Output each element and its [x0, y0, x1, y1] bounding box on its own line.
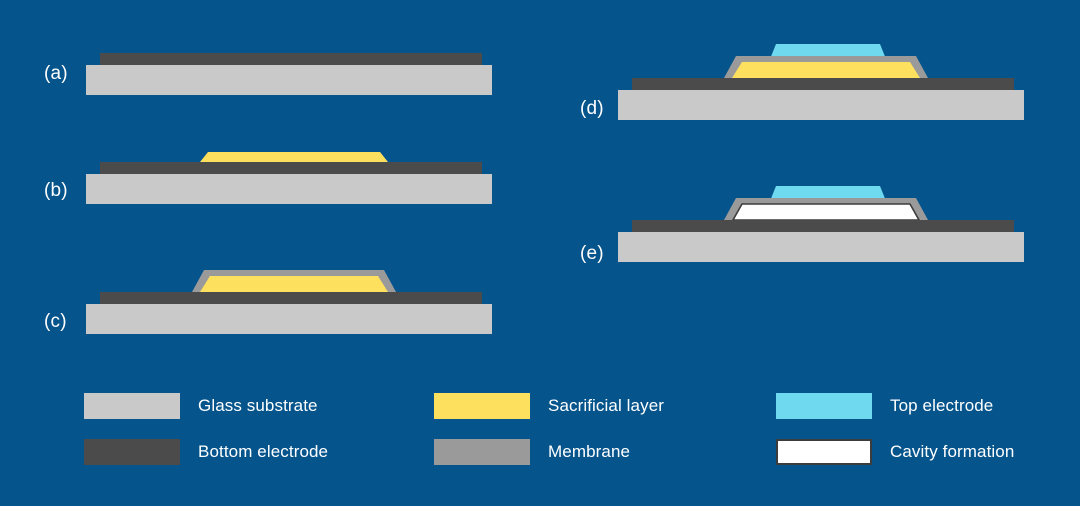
legend-item-sacrificial-layer: Sacrificial layer	[434, 393, 664, 419]
panel-label-c: (c)	[44, 311, 67, 333]
legend-label-sacrificial-layer: Sacrificial layer	[548, 396, 664, 416]
layer-bottom-electrode	[632, 78, 1014, 90]
process-flow-figure: (a) (b) (c) (d)	[0, 0, 1080, 506]
legend-swatch-top-electrode	[776, 393, 872, 419]
legend-swatch-bottom-electrode	[84, 439, 180, 465]
layer-glass-substrate	[86, 65, 492, 95]
layer-sacrificial-top	[735, 62, 917, 78]
legend-item-glass-substrate: Glass substrate	[84, 393, 318, 419]
layer-bottom-electrode	[632, 220, 1014, 232]
panel-label-e: (e)	[580, 243, 604, 265]
layer-cavity-formation	[733, 204, 919, 220]
legend-item-cavity-formation: Cavity formation	[776, 439, 1014, 465]
legend-label-membrane: Membrane	[548, 442, 630, 462]
panel-c-cross-section	[86, 258, 496, 336]
legend-item-top-electrode: Top electrode	[776, 393, 993, 419]
layer-glass-substrate	[86, 304, 492, 334]
legend-swatch-cavity-formation	[776, 439, 872, 465]
layer-sacrificial-top	[200, 152, 388, 162]
layer-bottom-electrode	[100, 292, 482, 304]
legend-label-cavity-formation: Cavity formation	[890, 442, 1014, 462]
panel-label-d: (d)	[580, 98, 604, 120]
panel-label-b: (b)	[44, 180, 68, 202]
layer-sacrificial-top	[203, 276, 385, 292]
panel-b-cross-section	[86, 140, 496, 206]
panel-d-cross-section	[618, 30, 1028, 122]
legend-swatch-membrane	[434, 439, 530, 465]
legend-item-membrane: Membrane	[434, 439, 630, 465]
layer-glass-substrate	[618, 232, 1024, 262]
panel-a-cross-section	[86, 45, 496, 97]
layer-bottom-electrode	[100, 53, 482, 65]
layer-glass-substrate	[618, 90, 1024, 120]
legend-label-bottom-electrode: Bottom electrode	[198, 442, 328, 462]
legend-swatch-sacrificial-layer	[434, 393, 530, 419]
layer-glass-substrate	[86, 174, 492, 204]
panel-e-cross-section	[618, 180, 1028, 264]
layer-bottom-electrode	[100, 162, 482, 174]
legend-item-bottom-electrode: Bottom electrode	[84, 439, 328, 465]
legend-label-glass-substrate: Glass substrate	[198, 396, 318, 416]
legend-swatch-glass-substrate	[84, 393, 180, 419]
panel-label-a: (a)	[44, 63, 68, 85]
legend-label-top-electrode: Top electrode	[890, 396, 993, 416]
